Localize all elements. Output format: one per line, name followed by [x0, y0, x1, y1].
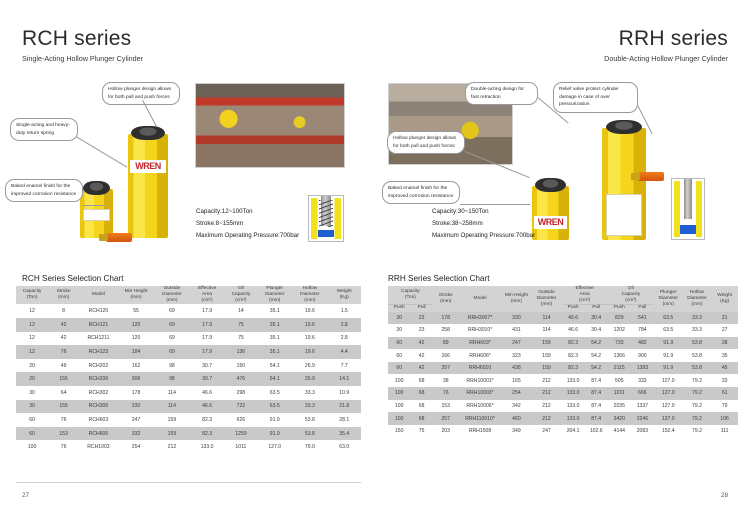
cell: 35.1: [257, 345, 292, 359]
cell: 114: [154, 400, 189, 414]
table-row: 1006876RRH10003*254212133.087.4101166612…: [388, 387, 738, 400]
cell: 79.2: [683, 412, 712, 425]
cell: 438: [501, 362, 531, 375]
cell: 54.2: [585, 362, 608, 375]
cell: 33.3: [683, 324, 712, 337]
table-row: 2049RCH2021629830.715054.126.97.7: [16, 359, 361, 373]
callout-hollow-plunger-rch: Hollow plunger design allows for both pu…: [102, 82, 180, 105]
cell: 30.7: [190, 359, 225, 373]
cell: 1011: [225, 440, 257, 454]
table-row: 128RCH120556917.91435.119.61.5: [16, 304, 361, 318]
cell: 79.2: [683, 400, 712, 413]
cell: 1011: [608, 387, 631, 400]
cell: 89: [433, 337, 459, 350]
cell-model: RCH603: [79, 413, 118, 427]
table-row: 6042166RRH606*32315982.354.2136690091.95…: [388, 349, 738, 362]
cell: 63.5: [654, 324, 683, 337]
cell: 1.5: [327, 304, 361, 318]
cell: 7.7: [327, 359, 361, 373]
cell: 155: [48, 400, 79, 414]
cell: 162: [118, 359, 155, 373]
callout-relief-valve-rrh: Relief valve protect cylinder damage in …: [553, 82, 638, 113]
cell: 21: [711, 312, 738, 325]
callout-double-acting-rrh: Double-acting design for fast retraction: [465, 82, 538, 105]
column-header-7: PlungerDiameter(mm): [257, 286, 292, 304]
table-row: 604289RRH603*24715982.354.273348291.953.…: [388, 337, 738, 350]
column-subheader-6-0: Push: [608, 305, 631, 312]
spec-sticker-rch: [83, 209, 109, 221]
cell-model: RRH1508: [459, 425, 502, 438]
cell: 76: [48, 440, 79, 454]
cell: 30: [388, 312, 410, 325]
cell-model: RRH6010: [459, 362, 502, 375]
spec-summary-rch: Capacity:12~100Ton Stroke:8~155mm Maximu…: [196, 206, 299, 242]
cell: 541: [631, 312, 654, 325]
cell: 342: [501, 400, 531, 413]
cell: 82.3: [190, 427, 225, 441]
page-number-right: 28: [721, 492, 728, 499]
cell: 76: [433, 387, 459, 400]
table-wrap-rrh: Capacity(Ton)Stroke(mm)ModelMin Height(m…: [388, 286, 738, 437]
cell: 82.3: [190, 413, 225, 427]
cell-model: RCH206: [79, 372, 118, 386]
cell: 75: [225, 318, 257, 332]
cell: 19.6: [292, 345, 327, 359]
cell: 10.9: [327, 386, 361, 400]
cell: 60: [388, 337, 410, 350]
cell: 60: [388, 349, 410, 362]
cell: 2035: [608, 400, 631, 413]
cell: 100: [388, 412, 410, 425]
cell: 666: [631, 387, 654, 400]
table-body-rch: 128RCH120556917.91435.119.61.51242RCH121…: [16, 304, 361, 454]
cell: 17.9: [190, 318, 225, 332]
page-rch: RCH series Single-Acting Hollow Plunger …: [0, 0, 375, 509]
rch-hero: WREN Hollow plunger design allows for bo…: [0, 78, 375, 263]
cell: 247: [501, 337, 531, 350]
column-header-4: OutsideDiameter(mm): [154, 286, 189, 304]
cell: 12: [16, 318, 48, 332]
cell: 82.3: [562, 337, 585, 350]
table-wrap-rch: Capacity(Ton)Stroke(mm)ModelMin Height(m…: [16, 286, 361, 454]
column-header-1: Stroke(mm): [433, 286, 459, 312]
page-subtitle-rch: Single-Acting Hollow Plunger Cylinder: [22, 54, 143, 63]
cell: 254: [118, 440, 155, 454]
cell-model: RRH603*: [459, 337, 502, 350]
cell-model: RRH606*: [459, 349, 502, 362]
cell: 20: [16, 372, 48, 386]
cell: 42: [48, 332, 79, 346]
cell: 133.0: [562, 374, 585, 387]
cell: 114: [531, 312, 561, 325]
cell: 26.9: [292, 372, 327, 386]
page-rrh: RRH series Double-Acting Hollow Plunger …: [375, 0, 750, 509]
cell: 46.6: [562, 324, 585, 337]
cell: 784: [631, 324, 654, 337]
page-subtitle-rrh: Double-Acting Hollow Plunger Cylinder: [604, 54, 728, 63]
cell: 27: [711, 324, 738, 337]
cell: 17.9: [190, 332, 225, 346]
cell: 53.8: [292, 427, 327, 441]
cell: 42: [48, 318, 79, 332]
cell: 68: [410, 387, 432, 400]
cell-model: RCH606: [79, 427, 118, 441]
table-row: 10068257RRH110010*460212133.087.43420224…: [388, 412, 738, 425]
cell: 212: [531, 412, 561, 425]
table-row: 6042257RRH601043815982.354.22115139391.9…: [388, 362, 738, 375]
cell: 30: [16, 386, 48, 400]
cell: 30.4: [585, 324, 608, 337]
cell: 35.1: [257, 304, 292, 318]
cell: 98: [154, 372, 189, 386]
cell: 60: [388, 362, 410, 375]
cell: 61: [711, 387, 738, 400]
cell: 68: [410, 374, 432, 387]
column-header-5: EffectiveArea(cm²): [190, 286, 225, 304]
cell: 133.0: [562, 387, 585, 400]
cell: 127.0: [654, 412, 683, 425]
cell-model: RRH3007*: [459, 312, 502, 325]
cell: 68: [410, 400, 432, 413]
cutaway-diagram-rrh: [671, 178, 705, 240]
cell-model: RRH10001*: [459, 374, 502, 387]
cylinder-large-rch: WREN: [128, 126, 168, 238]
cell: 87.4: [585, 374, 608, 387]
header-row: Capacity(Ton)Stroke(mm)ModelMin Height(m…: [16, 286, 361, 304]
cell: 12: [16, 304, 48, 318]
cell: 69: [154, 318, 189, 332]
cell: 69: [154, 304, 189, 318]
cell: 75: [225, 332, 257, 346]
callout-hollow-plunger-rrh: Hollow plunger design allows for both pu…: [387, 131, 465, 154]
table-row: 1276RCH1231846917.913635.119.64.4: [16, 345, 361, 359]
rrh-hero: WREN Double-acting design for fast retra…: [375, 78, 750, 263]
cell-model: RCH120: [79, 304, 118, 318]
cell: 33.3: [292, 386, 327, 400]
cell: 19.6: [292, 304, 327, 318]
cell-model: RCH302: [79, 386, 118, 400]
cell: 4.4: [327, 345, 361, 359]
column-header-0: Capacity(Ton): [16, 286, 48, 304]
cell: 98: [154, 359, 189, 373]
column-subheader-6-1: Pull: [631, 305, 654, 312]
column-header-3: Min Height(mm): [501, 286, 531, 312]
cell: 1393: [631, 362, 654, 375]
column-header-7: PlungerDiameter(mm): [654, 286, 683, 312]
cell: 212: [531, 387, 561, 400]
cell: 30.7: [190, 372, 225, 386]
callout-leader: [75, 136, 127, 168]
cell: 46.6: [562, 312, 585, 325]
selection-chart-rrh: Capacity(Ton)Stroke(mm)ModelMin Height(m…: [388, 286, 738, 437]
column-header-8: HollowDiameter(mm): [683, 286, 712, 312]
cell: 323: [501, 349, 531, 362]
cell: 63.0: [327, 440, 361, 454]
cell: 159: [531, 349, 561, 362]
cell: 53.8: [683, 362, 712, 375]
cell: 68: [410, 412, 432, 425]
footer-rule: [16, 482, 361, 483]
cell: 100: [388, 387, 410, 400]
cell: 155: [48, 372, 79, 386]
cell: 30.4: [585, 312, 608, 325]
cell: 165: [501, 374, 531, 387]
table-head-rrh: Capacity(Ton)Stroke(mm)ModelMin Height(m…: [388, 286, 738, 312]
cell: 150: [388, 425, 410, 438]
cell: 133.0: [562, 412, 585, 425]
column-header-6: OilCapacity(cm³): [225, 286, 257, 304]
cell: 54.2: [585, 337, 608, 350]
cell: 431: [501, 324, 531, 337]
cell-model: RCH1211: [79, 332, 118, 346]
cell: 46.6: [190, 400, 225, 414]
cell: 722: [225, 400, 257, 414]
callout-single-acting-rch: Single-acting and heavy-duty return spri…: [10, 118, 78, 141]
cell: 17.9: [190, 304, 225, 318]
cell: 153: [48, 427, 79, 441]
cell: 79.2: [683, 387, 712, 400]
cell: 42: [410, 349, 432, 362]
cell: 349: [501, 425, 531, 438]
cell: 79: [711, 400, 738, 413]
cell: 30: [388, 324, 410, 337]
cell: 69: [154, 345, 189, 359]
cell: 26.9: [292, 359, 327, 373]
cell: 111: [711, 425, 738, 438]
cell: 76: [48, 413, 79, 427]
cell: 91.9: [257, 413, 292, 427]
cell: 35.4: [327, 427, 361, 441]
cell: 2.8: [327, 332, 361, 346]
page-number-left: 27: [22, 492, 29, 499]
cell: 127.0: [654, 400, 683, 413]
cell: 626: [225, 413, 257, 427]
chart-title-rch: RCH Series Selection Chart: [22, 274, 123, 283]
cell: 2246: [631, 412, 654, 425]
brand-label-rrh: WREN: [534, 216, 567, 229]
cell: 254: [501, 387, 531, 400]
cell: 91.9: [654, 362, 683, 375]
cell: 153: [433, 400, 459, 413]
page-title-rrh: RRH series: [604, 28, 728, 49]
cell: 476: [225, 372, 257, 386]
cell: 42: [410, 362, 432, 375]
cell-model: RCH123: [79, 345, 118, 359]
cell: 60: [16, 427, 48, 441]
cell: 14: [225, 304, 257, 318]
cell: 4144: [608, 425, 631, 438]
cell: 35.1: [257, 318, 292, 332]
cell: 257: [433, 412, 459, 425]
cell: 133.0: [562, 400, 585, 413]
cell: 54.2: [585, 349, 608, 362]
cell: 79.2: [683, 425, 712, 438]
cell: 100: [388, 374, 410, 387]
cell: 152.4: [654, 425, 683, 438]
cell: 33.3: [683, 312, 712, 325]
column-subheader-0-1: Pull: [410, 305, 432, 312]
cell: 1259: [225, 427, 257, 441]
callout-baked-enamel-rrh: Baked enamel finish for the improved cor…: [382, 181, 460, 204]
cylinder-small-rrh: WREN: [532, 178, 569, 240]
table-row: 60153RCH60633215982.3125991.953.835.4: [16, 427, 361, 441]
cell: 829: [608, 312, 631, 325]
cell: 63.5: [257, 386, 292, 400]
cell: 76: [48, 345, 79, 359]
cell: 8: [48, 304, 79, 318]
column-header-9: Weight(Kg): [327, 286, 361, 304]
cell: 203: [433, 425, 459, 438]
cell: 258: [433, 324, 459, 337]
cell: 64: [48, 386, 79, 400]
cell: 114: [154, 386, 189, 400]
column-header-3: Min Height(mm): [118, 286, 155, 304]
cell: 54.1: [257, 372, 292, 386]
cell: 150: [225, 359, 257, 373]
cell: 35.1: [257, 332, 292, 346]
cell: 136: [225, 345, 257, 359]
cell: 330: [118, 400, 155, 414]
cylinder-small-rch: [80, 181, 113, 238]
cell: 1337: [631, 400, 654, 413]
cell-model: RRH3010*: [459, 324, 502, 337]
cell: 306: [118, 372, 155, 386]
product-photo-rch: [195, 83, 345, 168]
cutaway-diagram-rch: [308, 195, 344, 242]
cell: 30: [16, 400, 48, 414]
cell: 159: [154, 413, 189, 427]
cell: 120: [118, 318, 155, 332]
table-row: 30155RCH30633011446.672263.533.321.8: [16, 400, 361, 414]
cell: 75: [410, 425, 432, 438]
cell-model: RRH110010*: [459, 412, 502, 425]
cell: 79.2: [683, 374, 712, 387]
cell: 114: [531, 324, 561, 337]
cell-model: RCH306: [79, 400, 118, 414]
column-header-4: OutsideDiameter(mm): [531, 286, 561, 312]
cell: 212: [531, 400, 561, 413]
callout-leader: [83, 205, 105, 206]
cell: 38: [433, 374, 459, 387]
cell: 46.6: [190, 386, 225, 400]
cell: 12: [16, 345, 48, 359]
cell: 87.4: [585, 400, 608, 413]
table-row: 1006838RRH10001*165212133.087.4505333127…: [388, 374, 738, 387]
cell: 14.1: [327, 372, 361, 386]
callout-leader: [460, 204, 530, 205]
cell: 2115: [608, 362, 631, 375]
spec-sticker-rrh: [606, 194, 641, 236]
cell: 733: [608, 337, 631, 350]
column-header-0: Capacity(Ton): [388, 286, 433, 305]
table-row: 3064RCH30217811446.629863.533.310.9: [16, 386, 361, 400]
cell: 21.8: [327, 400, 361, 414]
cell: 23: [410, 312, 432, 325]
cell: 63.5: [257, 400, 292, 414]
cell: 257: [433, 362, 459, 375]
column-subheader-0-0: Push: [388, 305, 410, 312]
cell: 53.8: [292, 413, 327, 427]
chart-title-rrh: RRH Series Selection Chart: [388, 274, 489, 283]
cell: 127.0: [654, 387, 683, 400]
cell: 42: [410, 337, 432, 350]
rrh-heading-block: RRH series Double-Acting Hollow Plunger …: [604, 28, 728, 63]
cell: 127.0: [654, 374, 683, 387]
cell: 19.6: [292, 332, 327, 346]
cell-model: RCH202: [79, 359, 118, 373]
cell: 20: [16, 359, 48, 373]
header-row-group: Capacity(Ton)Stroke(mm)ModelMin Height(m…: [388, 286, 738, 305]
table-row: 20155RCH2063069830.747654.126.914.1: [16, 372, 361, 386]
cell: 166: [433, 349, 459, 362]
table-row: 15075203RRH1508349247204.1102.6414420831…: [388, 425, 738, 438]
cell: 204.1: [562, 425, 585, 438]
column-subheader-5-1: Pull: [585, 305, 608, 312]
cell: 1202: [608, 324, 631, 337]
table-row: 10076RCH1003254212133.01011127.079.063.0: [16, 440, 361, 454]
cell: 87.4: [585, 412, 608, 425]
cell: 460: [501, 412, 531, 425]
cell: 159: [154, 427, 189, 441]
cell: 1366: [608, 349, 631, 362]
cell: 102.6: [585, 425, 608, 438]
cell: 178: [118, 386, 155, 400]
spec-summary-rrh: Capacity:30~150Ton Stroke:38~258mm Maxim…: [432, 206, 535, 242]
cell: 247: [118, 413, 155, 427]
cell: 54.1: [257, 359, 292, 373]
rch-heading-block: RCH series Single-Acting Hollow Plunger …: [22, 28, 143, 63]
column-header-9: Weight(Kg): [711, 286, 738, 312]
cell: 45: [711, 362, 738, 375]
cylinder-large-rrh: [602, 120, 646, 240]
cell: 17.9: [190, 345, 225, 359]
cell: 159: [531, 337, 561, 350]
page-title-rch: RCH series: [22, 28, 143, 49]
cell: 53.8: [683, 337, 712, 350]
cell: 100: [388, 400, 410, 413]
table-row: 3023178RRH3007*33011446.630.482954163.53…: [388, 312, 738, 325]
cell: 127.0: [257, 440, 292, 454]
cell-model: RRH10006*: [459, 400, 502, 413]
column-header-8: HollowDiameter(mm): [292, 286, 327, 304]
cell: 159: [531, 362, 561, 375]
cell: 3420: [608, 412, 631, 425]
cell: 106: [711, 412, 738, 425]
cell-model: RCH1003: [79, 440, 118, 454]
column-header-6: OilCapacity(cm³): [608, 286, 654, 305]
cell: 178: [433, 312, 459, 325]
cell: 2083: [631, 425, 654, 438]
cell: 505: [608, 374, 631, 387]
cell: 55: [118, 304, 155, 318]
cell: 482: [631, 337, 654, 350]
cell: 330: [501, 312, 531, 325]
cell: 69: [154, 332, 189, 346]
cell: 12: [16, 332, 48, 346]
cell: 82.3: [562, 362, 585, 375]
cell: 333: [631, 374, 654, 387]
cell: 100: [16, 440, 48, 454]
cell: 33.3: [292, 400, 327, 414]
cell-model: RRH10003*: [459, 387, 502, 400]
callout-baked-enamel-rch: Baked enamel finish for the improved cor…: [5, 179, 83, 202]
cell: 33: [711, 374, 738, 387]
relief-valve-rrh: [638, 172, 664, 181]
table-row: 1242RCH12111206917.97535.119.62.8: [16, 332, 361, 346]
cell: 133.0: [190, 440, 225, 454]
cell: 28.1: [327, 413, 361, 427]
cell: 23: [410, 324, 432, 337]
